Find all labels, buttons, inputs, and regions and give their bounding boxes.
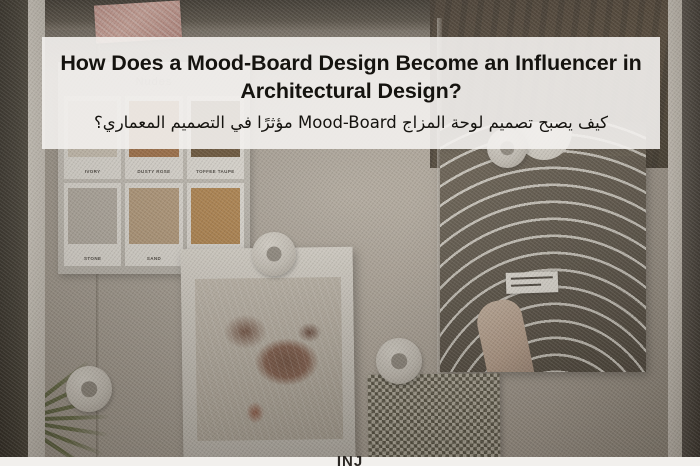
- round-magnet-lower: [376, 338, 422, 384]
- contour-landscape-print: [440, 122, 646, 372]
- handwritten-note-card: [506, 271, 559, 294]
- frame-edge-light-right: [668, 0, 682, 466]
- pottery-vessels-photo: [195, 277, 343, 441]
- checkered-fabric-swatch: [368, 373, 501, 462]
- bottom-white-strip: INJ: [0, 457, 700, 466]
- swatch-label: STONE: [64, 256, 121, 261]
- swatch-label: IVORY: [64, 169, 121, 174]
- swatch-label: SAND: [125, 256, 182, 261]
- swatch-chip: [191, 188, 240, 244]
- article-hero-banner: Nudes IVORY DUSTY ROSE TOFFEE TAUPE STON…: [0, 0, 700, 466]
- palette-swatch: STONE: [64, 183, 121, 266]
- swatch-label: DUSTY ROSE: [125, 169, 182, 174]
- note-text-line: [511, 276, 553, 279]
- frame-edge-dark-right: [682, 0, 700, 466]
- title-overlay-card: How Does a Mood-Board Design Become an I…: [42, 37, 660, 149]
- site-logo-text[interactable]: INJ: [337, 457, 363, 466]
- page-title-arabic: كيف يصبح تصميم لوحة المزاج Mood-Board مؤ…: [56, 112, 646, 134]
- pottery-polaroid: [181, 247, 356, 463]
- palette-swatch: SAND: [125, 183, 182, 266]
- frame-edge-dark-left: [0, 0, 28, 466]
- swatch-chip: [129, 188, 178, 244]
- swatch-chip: [68, 188, 117, 244]
- note-text-line: [511, 284, 541, 287]
- page-title-english: How Does a Mood-Board Design Become an I…: [56, 50, 646, 105]
- round-magnet-center: [252, 232, 296, 276]
- swatch-label: TOFFEE TAUPE: [187, 169, 244, 174]
- round-magnet-left: [66, 366, 112, 412]
